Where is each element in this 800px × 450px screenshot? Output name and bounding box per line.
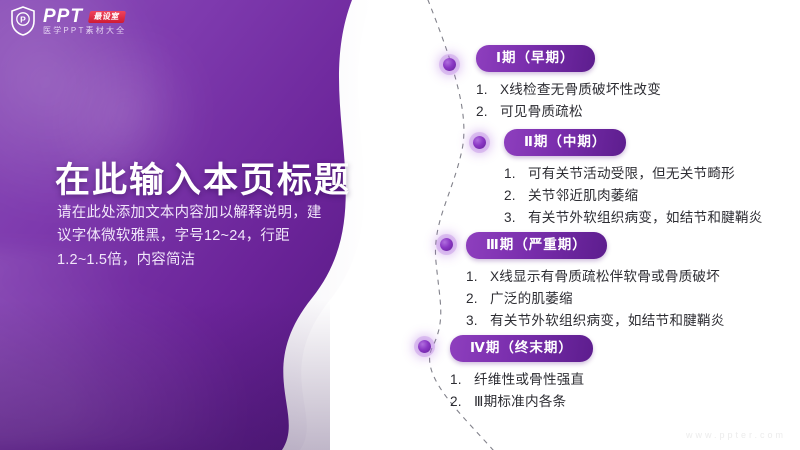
stage-items-1: 1. X线检查无骨质破坏性改变 2. 可见骨质疏松 — [476, 79, 661, 123]
list-item: 2. 关节邻近肌肉萎缩 — [504, 185, 763, 207]
list-item: 1. 可有关节活动受限，但无关节畸形 — [504, 163, 763, 185]
stage-items-2: 1. 可有关节活动受限，但无关节畸形 2. 关节邻近肌肉萎缩 3. 有关节外软组… — [504, 163, 763, 229]
stage-block-4: Ⅳ期（终末期） 1. 纤维性或骨性强直 2. Ⅲ期标准内各条 — [450, 335, 593, 413]
list-item: 1. X线显示有骨质疏松伴软骨或骨质破坏 — [466, 266, 725, 288]
item-number: 2. — [476, 101, 500, 123]
item-number: 1. — [504, 163, 528, 185]
timeline-dot-stage-4[interactable] — [418, 340, 431, 353]
shield-icon: P — [10, 6, 36, 36]
shield-letter: P — [20, 15, 26, 25]
page-title: 在此输入本页标题 — [55, 152, 351, 203]
timeline-dot-stage-2[interactable] — [473, 136, 486, 149]
timeline-dot-stage-1[interactable] — [443, 58, 456, 71]
stage-items-4: 1. 纤维性或骨性强直 2. Ⅲ期标准内各条 — [450, 369, 593, 413]
list-item: 3. 有关节外软组织病变，如结节和腱鞘炎 — [504, 207, 763, 229]
list-item: 2. 广泛的肌萎缩 — [466, 288, 725, 310]
slide-canvas: P PPT 最设室 医学PPT素材大全 在此输入本页标题 请在此处添加文本内容加… — [0, 0, 800, 450]
item-number: 1. — [450, 369, 474, 391]
item-text: 可见骨质疏松 — [500, 101, 583, 123]
item-text: 关节邻近肌肉萎缩 — [528, 185, 638, 207]
logo-badge: 最设室 — [88, 11, 126, 23]
logo-wordmark: PPT — [43, 7, 83, 26]
logo-tagline: 医学PPT素材大全 — [43, 27, 126, 35]
stage-items-3: 1. X线显示有骨质疏松伴软骨或骨质破坏 2. 广泛的肌萎缩 3. 有关节外软组… — [466, 266, 725, 332]
timeline-dot-stage-3[interactable] — [440, 238, 453, 251]
list-item: 1. 纤维性或骨性强直 — [450, 369, 593, 391]
item-number: 1. — [466, 266, 490, 288]
stage-badge-1[interactable]: Ⅰ期（早期） — [476, 45, 595, 72]
item-text: X线显示有骨质疏松伴软骨或骨质破坏 — [490, 266, 720, 288]
item-number: 3. — [466, 310, 490, 332]
page-subtext: 请在此处添加文本内容加以解释说明，建议字体微软雅黑，字号12~24，行距1.2~… — [57, 202, 329, 272]
site-watermark: www.ppter.com — [686, 430, 786, 440]
item-number: 1. — [476, 79, 500, 101]
item-text: 广泛的肌萎缩 — [490, 288, 573, 310]
stage-block-1: Ⅰ期（早期） 1. X线检查无骨质破坏性改变 2. 可见骨质疏松 — [476, 45, 661, 123]
stage-badge-2[interactable]: Ⅱ期（中期） — [504, 129, 626, 156]
stage-block-3: Ⅲ期（严重期） 1. X线显示有骨质疏松伴软骨或骨质破坏 2. 广泛的肌萎缩 3… — [466, 232, 725, 332]
item-text: 纤维性或骨性强直 — [474, 369, 584, 391]
item-number: 2. — [504, 185, 528, 207]
list-item: 2. 可见骨质疏松 — [476, 101, 661, 123]
item-number: 2. — [450, 391, 474, 413]
list-item: 3. 有关节外软组织病变，如结节和腱鞘炎 — [466, 310, 725, 332]
item-text: 有关节外软组织病变，如结节和腱鞘炎 — [528, 207, 763, 229]
stage-badge-3[interactable]: Ⅲ期（严重期） — [466, 232, 607, 259]
brand-logo[interactable]: P PPT 最设室 医学PPT素材大全 — [10, 6, 126, 36]
stage-block-2: Ⅱ期（中期） 1. 可有关节活动受限，但无关节畸形 2. 关节邻近肌肉萎缩 3.… — [504, 129, 763, 229]
list-item: 1. X线检查无骨质破坏性改变 — [476, 79, 661, 101]
item-text: X线检查无骨质破坏性改变 — [500, 79, 661, 101]
item-number: 2. — [466, 288, 490, 310]
item-text: Ⅲ期标准内各条 — [474, 391, 566, 413]
item-text: 有关节外软组织病变，如结节和腱鞘炎 — [490, 310, 725, 332]
stage-badge-4[interactable]: Ⅳ期（终末期） — [450, 335, 593, 362]
item-number: 3. — [504, 207, 528, 229]
item-text: 可有关节活动受限，但无关节畸形 — [528, 163, 735, 185]
list-item: 2. Ⅲ期标准内各条 — [450, 391, 593, 413]
